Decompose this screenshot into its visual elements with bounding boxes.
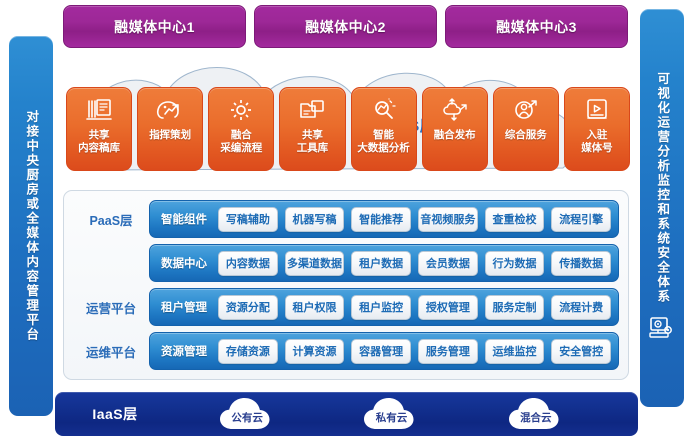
- gear-icon: [227, 95, 255, 125]
- row-bar-resource-management[interactable]: 资源管理 存储资源 计算资源 容器管理 服务管理 运维监控 安全管控: [149, 332, 619, 370]
- pill-item[interactable]: 流程引擎: [551, 207, 611, 232]
- media-center-box-2[interactable]: 融媒体中心2: [254, 5, 437, 48]
- saas-tile-media-account[interactable]: 入驻 媒体号: [564, 87, 630, 171]
- pill-item[interactable]: 传播数据: [551, 251, 611, 276]
- pill-item[interactable]: 容器管理: [351, 339, 411, 364]
- media-center-row: 融媒体中心1 融媒体中心2 融媒体中心3: [63, 5, 628, 48]
- paas-row-maintenance-platform: 运维平台 资源管理 存储资源 计算资源 容器管理 服务管理 运维监控 安全管控: [73, 331, 619, 371]
- media-center-box-1[interactable]: 融媒体中心1: [63, 5, 246, 48]
- saas-tile-label-5b: 大数据分析: [357, 142, 410, 154]
- pill-item[interactable]: 租户数据: [351, 251, 411, 276]
- pill-item[interactable]: 租户权限: [285, 295, 345, 320]
- pill-item[interactable]: 运维监控: [485, 339, 545, 364]
- media-center-label-3: 融媒体中心3: [496, 17, 577, 37]
- row-bar-data-center[interactable]: 数据中心 内容数据 多渠道数据 租户数据 会员数据 行为数据 传播数据: [149, 244, 619, 282]
- saas-tiles: 共享 内容稿库 指挥策划: [66, 87, 630, 171]
- media-center-label-2: 融媒体中心2: [305, 17, 386, 37]
- saas-tile-label-4b: 工具库: [297, 142, 329, 154]
- pill-item[interactable]: 存储资源: [218, 339, 278, 364]
- saas-tile-shared-content-library[interactable]: 共享 内容稿库: [66, 87, 132, 171]
- document-library-icon: [85, 95, 113, 125]
- iaas-cloud-label-public: 公有云: [206, 410, 288, 425]
- saas-tile-label-8b: 媒体号: [581, 142, 613, 154]
- saas-tile-label-3a: 融合: [231, 129, 252, 141]
- strategy-chart-icon: [156, 95, 184, 125]
- right-rail: 可视化运营分析监控和系统安全体系: [640, 9, 684, 407]
- pill-item[interactable]: 内容数据: [218, 251, 278, 276]
- pill-item[interactable]: 流程计费: [551, 295, 611, 320]
- row-head-tenant-management: 租户管理: [157, 299, 211, 315]
- right-rail-label: 可视化运营分析监控和系统安全体系: [656, 72, 669, 304]
- iaas-cloud-list: 公有云 私有云 混合云: [175, 395, 638, 433]
- saas-layer: SaaS层 共享 内容稿库: [63, 52, 631, 175]
- saas-tile-integrated-services[interactable]: 综合服务: [493, 87, 559, 171]
- saas-tile-big-data-analysis[interactable]: 智能 大数据分析: [351, 87, 417, 171]
- row-head-data-center: 数据中心: [157, 255, 211, 271]
- pill-item[interactable]: 会员数据: [418, 251, 478, 276]
- saas-tile-command-planning[interactable]: 指挥策划: [137, 87, 203, 171]
- saas-tile-label-5a: 智能: [373, 129, 394, 141]
- pill-item[interactable]: 授权管理: [418, 295, 478, 320]
- paas-panel: PaaS层 智能组件 写稿辅助 机器写稿 智能推荐 音视频服务 查重检校 流程引…: [63, 190, 629, 380]
- iaas-cloud-private[interactable]: 私有云: [350, 395, 432, 433]
- media-center-label-1: 融媒体中心1: [114, 17, 195, 37]
- saas-tile-label-4a: 共享: [302, 129, 323, 141]
- pill-item[interactable]: 音视频服务: [418, 207, 478, 232]
- data-analysis-icon: [370, 95, 398, 125]
- service-person-icon: [512, 95, 540, 125]
- pill-item[interactable]: 智能推荐: [351, 207, 411, 232]
- architecture-diagram: 对接中央厨房或全媒体内容管理平台 可视化运营分析监控和系统安全体系 融媒体中心1…: [0, 0, 693, 440]
- iaas-cloud-label-private: 私有云: [350, 410, 432, 425]
- saas-tile-label-1b: 内容稿库: [78, 142, 120, 154]
- pill-item[interactable]: 查重检校: [485, 207, 545, 232]
- row-head-resource-management: 资源管理: [157, 343, 211, 359]
- monitor-gear-icon: [649, 316, 675, 345]
- iaas-layer-label: IaaS层: [55, 404, 175, 424]
- saas-tile-label-1a: 共享: [89, 129, 110, 141]
- pill-item[interactable]: 服务管理: [418, 339, 478, 364]
- saas-tile-label-8a: 入驻: [586, 129, 607, 141]
- saas-tile-label-6a: 融合发布: [434, 129, 476, 141]
- pill-item[interactable]: 资源分配: [218, 295, 278, 320]
- pill-item[interactable]: 机器写稿: [285, 207, 345, 232]
- iaas-layer: IaaS层 公有云 私有云 混合云: [55, 392, 638, 436]
- pill-item[interactable]: 多渠道数据: [285, 251, 345, 276]
- pill-item[interactable]: 安全管控: [551, 339, 611, 364]
- row-bar-smart-components[interactable]: 智能组件 写稿辅助 机器写稿 智能推荐 音视频服务 查重检校 流程引擎: [149, 200, 619, 238]
- paas-layer-label: PaaS层: [73, 210, 149, 229]
- publish-cloud-icon: [441, 95, 469, 125]
- saas-tile-converged-publishing[interactable]: 融合发布: [422, 87, 488, 171]
- pill-item[interactable]: 计算资源: [285, 339, 345, 364]
- pill-item[interactable]: 服务定制: [485, 295, 545, 320]
- pill-item[interactable]: 行为数据: [485, 251, 545, 276]
- maintenance-platform-label: 运维平台: [73, 342, 149, 361]
- toolbox-folder-icon: [298, 95, 326, 125]
- left-rail-label: 对接中央厨房或全媒体内容管理平台: [25, 110, 38, 342]
- saas-tile-editing-workflow[interactable]: 融合 采编流程: [208, 87, 274, 171]
- iaas-cloud-label-hybrid: 混合云: [495, 410, 577, 425]
- media-play-icon: [583, 95, 611, 125]
- saas-tile-label-3b: 采编流程: [220, 142, 262, 154]
- iaas-cloud-public[interactable]: 公有云: [206, 395, 288, 433]
- pill-item[interactable]: 租户监控: [351, 295, 411, 320]
- saas-tile-shared-toolbox[interactable]: 共享 工具库: [279, 87, 345, 171]
- operations-platform-label: 运营平台: [73, 298, 149, 317]
- media-center-box-3[interactable]: 融媒体中心3: [445, 5, 628, 48]
- row-bar-tenant-management[interactable]: 租户管理 资源分配 租户权限 租户监控 授权管理 服务定制 流程计费: [149, 288, 619, 326]
- row-head-smart-components: 智能组件: [157, 211, 211, 227]
- paas-row-smart-components: PaaS层 智能组件 写稿辅助 机器写稿 智能推荐 音视频服务 查重检校 流程引…: [73, 199, 619, 239]
- pill-item[interactable]: 写稿辅助: [218, 207, 278, 232]
- saas-tile-label-7a: 综合服务: [505, 129, 547, 141]
- saas-tile-label-2a: 指挥策划: [149, 129, 191, 141]
- iaas-cloud-hybrid[interactable]: 混合云: [495, 395, 577, 433]
- paas-row-operations-platform: 运营平台 租户管理 资源分配 租户权限 租户监控 授权管理 服务定制 流程计费: [73, 287, 619, 327]
- left-rail: 对接中央厨房或全媒体内容管理平台: [9, 36, 53, 416]
- paas-row-data-center: 数据中心 内容数据 多渠道数据 租户数据 会员数据 行为数据 传播数据: [73, 243, 619, 283]
